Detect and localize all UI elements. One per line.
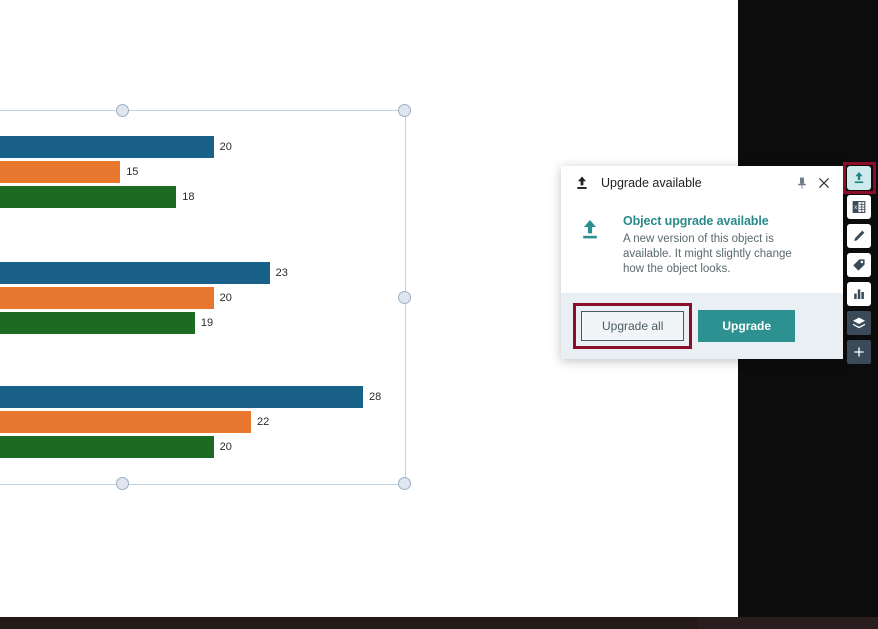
object-toolbar: x (847, 166, 871, 369)
layers-icon (851, 315, 867, 331)
selection-handle-bottom-right[interactable] (398, 477, 411, 490)
bottom-strip-right-segment (698, 617, 878, 629)
upload-icon-large (577, 214, 603, 277)
upload-icon (851, 170, 867, 186)
upgrade-all-button[interactable]: Upgrade all (581, 311, 684, 341)
svg-text:x: x (854, 205, 857, 211)
tag-icon (851, 257, 867, 273)
dialog-body-text: Object upgrade available A new version o… (603, 214, 795, 277)
toolbar-layers-button[interactable] (847, 311, 871, 335)
selection-handle-middle-right[interactable] (398, 291, 411, 304)
upload-icon (573, 174, 591, 192)
selection-frame (0, 110, 406, 485)
toolbar-add-button[interactable] (847, 340, 871, 364)
upgrade-available-dialog[interactable]: Upgrade available Object upgrade availab… (561, 166, 843, 359)
toolbar-upload-button[interactable] (847, 166, 871, 190)
plus-icon (851, 344, 867, 360)
pin-icon[interactable] (791, 172, 813, 194)
dialog-footer: Upgrade all Upgrade (561, 293, 843, 359)
selection-handle-top-right[interactable] (398, 104, 411, 117)
dialog-body: Object upgrade available A new version o… (561, 200, 843, 293)
spreadsheet-icon: x (851, 199, 867, 215)
bar-chart-icon (851, 286, 867, 302)
close-icon[interactable] (813, 172, 835, 194)
dialog-body-heading: Object upgrade available (623, 214, 795, 228)
dialog-title: Upgrade available (601, 176, 791, 190)
dialog-header: Upgrade available (561, 166, 843, 200)
upgrade-button[interactable]: Upgrade (698, 310, 795, 342)
dialog-body-description: A new version of this object is availabl… (623, 232, 795, 277)
toolbar-edit-button[interactable] (847, 224, 871, 248)
toolbar-chart-button[interactable] (847, 282, 871, 306)
upgrade-all-highlight-box: Upgrade all (573, 303, 692, 349)
pencil-icon (851, 228, 867, 244)
selection-handle-top-center[interactable] (116, 104, 129, 117)
toolbar-tag-button[interactable] (847, 253, 871, 277)
bottom-status-strip (0, 617, 878, 629)
toolbar-data-button[interactable]: x (847, 195, 871, 219)
selection-handle-bottom-center[interactable] (116, 477, 129, 490)
